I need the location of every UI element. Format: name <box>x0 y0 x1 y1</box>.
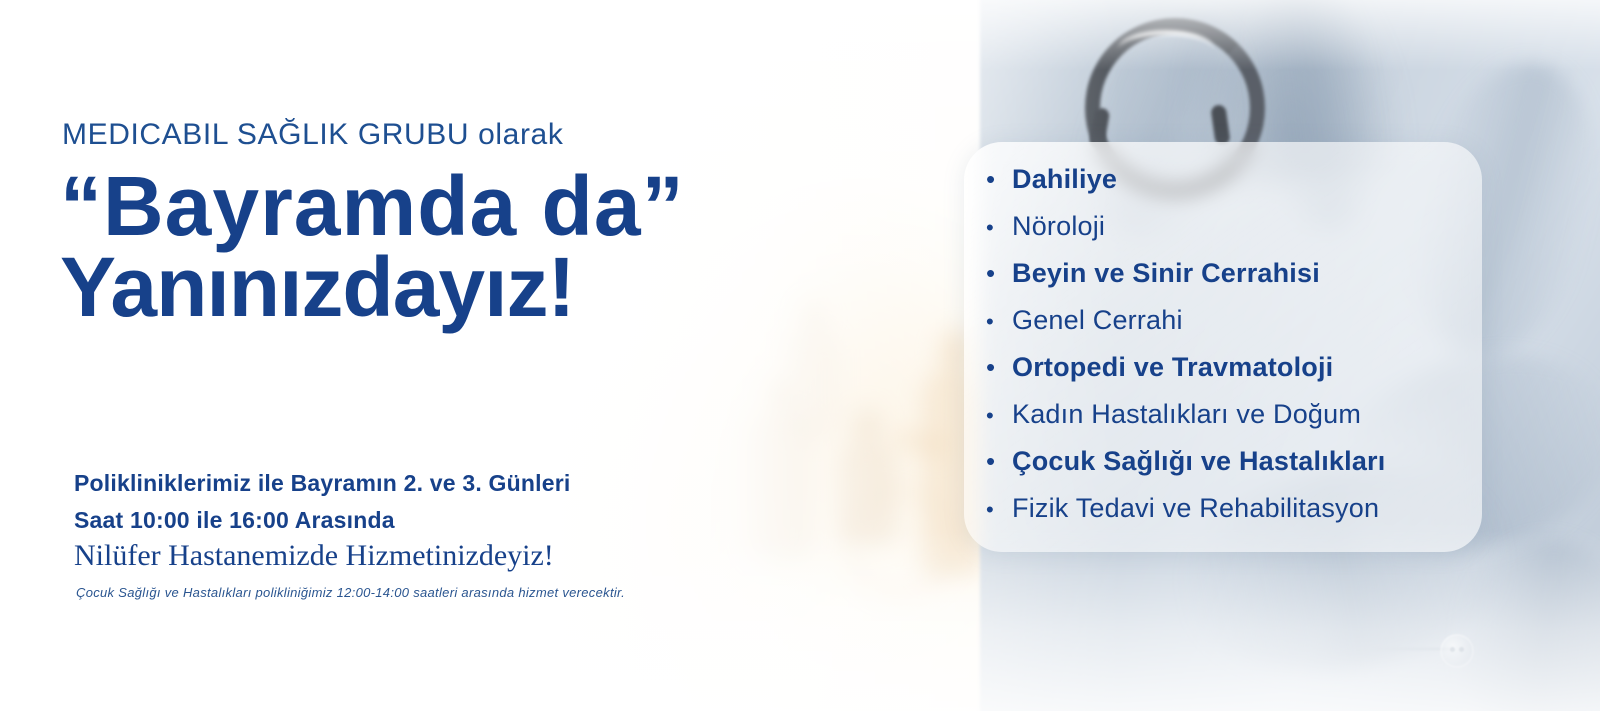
department-item: •Dahiliye <box>986 164 1385 211</box>
copy-block: MEDICABIL SAĞLIK GRUBU olarak “Bayramda … <box>0 0 980 711</box>
page-title: “Bayramda da” Yanınızdayız! <box>60 166 685 329</box>
schedule-line-1: Polikliniklerimiz ile Bayramın 2. ve 3. … <box>74 470 570 497</box>
department-item: •Ortopedi ve Travmatoloji <box>986 352 1385 399</box>
departments-panel: •Dahiliye•Nöroloji•Beyin ve Sinir Cerrah… <box>964 142 1482 552</box>
headline-line-2: Yanınızdayız! <box>60 247 685 328</box>
department-item: •Çocuk Sağlığı ve Hastalıkları <box>986 446 1385 493</box>
disclaimer-note: Çocuk Sağlığı ve Hastalıkları polikliniğ… <box>76 585 625 600</box>
department-label: Nöroloji <box>1012 211 1105 242</box>
department-item: •Beyin ve Sinir Cerrahisi <box>986 258 1385 305</box>
department-item: •Genel Cerrahi <box>986 305 1385 352</box>
department-label: Fizik Tedavi ve Rehabilitasyon <box>1012 493 1379 524</box>
department-label: Çocuk Sağlığı ve Hastalıkları <box>1012 446 1385 477</box>
department-item: •Nöroloji <box>986 211 1385 258</box>
headline-line-1: “Bayramda da” <box>60 166 685 247</box>
bullet-icon: • <box>986 354 1012 380</box>
department-item: •Fizik Tedavi ve Rehabilitasyon <box>986 493 1385 540</box>
bullet-icon: • <box>986 217 1012 239</box>
department-label: Kadın Hastalıkları ve Doğum <box>1012 399 1361 430</box>
promotional-banner: MEDICABIL SAĞLIK GRUBU olarak “Bayramda … <box>0 0 1600 711</box>
location-line: Nilüfer Hastanemizde Hizmetinizdeyiz! <box>74 539 554 573</box>
bullet-icon: • <box>986 499 1012 521</box>
bullet-icon: • <box>986 166 1012 192</box>
departments-list: •Dahiliye•Nöroloji•Beyin ve Sinir Cerrah… <box>986 164 1385 540</box>
department-label: Dahiliye <box>1012 164 1117 195</box>
bullet-icon: • <box>986 311 1012 333</box>
department-label: Genel Cerrahi <box>1012 305 1183 336</box>
brand-eyebrow: MEDICABIL SAĞLIK GRUBU olarak <box>62 118 563 152</box>
bullet-icon: • <box>986 405 1012 427</box>
department-item: •Kadın Hastalıkları ve Doğum <box>986 399 1385 446</box>
department-label: Beyin ve Sinir Cerrahisi <box>1012 258 1320 289</box>
bullet-icon: • <box>986 448 1012 474</box>
department-label: Ortopedi ve Travmatoloji <box>1012 352 1333 383</box>
bullet-icon: • <box>986 260 1012 286</box>
schedule-line-2: Saat 10:00 ile 16:00 Arasında <box>74 507 395 534</box>
